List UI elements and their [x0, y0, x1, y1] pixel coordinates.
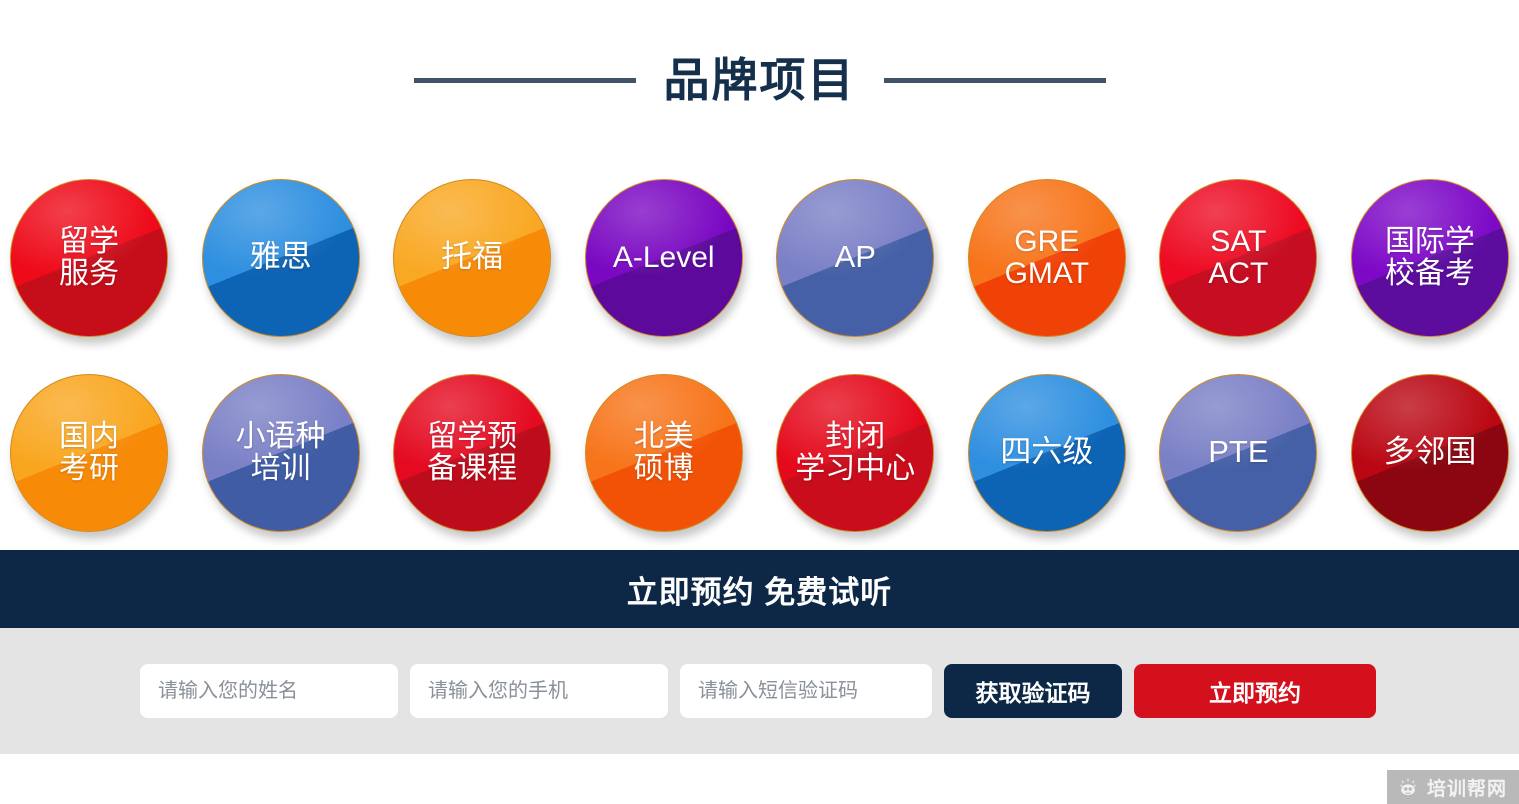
- program-label-line: 校备考: [1385, 258, 1475, 289]
- program-bubble-label: 多邻国: [1383, 436, 1476, 468]
- program-label-line: ACT: [1208, 258, 1268, 289]
- program-bubble[interactable]: 小语种培训: [202, 374, 360, 532]
- program-label-line: 国际学: [1385, 226, 1475, 257]
- program-bubble[interactable]: 北美硕博: [585, 374, 743, 532]
- program-bubble[interactable]: GREGMAT: [968, 179, 1126, 337]
- program-label-line: 国内: [59, 421, 119, 452]
- phone-input[interactable]: [410, 664, 668, 718]
- sms-code-input[interactable]: [680, 664, 932, 718]
- program-label-line: 服务: [59, 258, 119, 289]
- program-label-line: 北美: [634, 421, 694, 452]
- program-bubble-label: 国内考研: [59, 421, 119, 483]
- site-watermark: 培训帮网: [1387, 770, 1519, 804]
- program-label-line: 学习中心: [795, 453, 915, 484]
- program-label-line: 四六级: [1000, 436, 1093, 468]
- program-bubble[interactable]: 国内考研: [10, 374, 168, 532]
- program-bubble[interactable]: 留学预备课程: [393, 374, 551, 532]
- program-bubble-label: 托福: [441, 241, 503, 273]
- program-label-line: 培训: [236, 453, 326, 484]
- program-bubble[interactable]: 托福: [393, 179, 551, 337]
- program-label-line: 留学预: [427, 421, 517, 452]
- program-label-line: 雅思: [250, 241, 312, 273]
- program-label-line: AP: [835, 241, 876, 273]
- program-bubble[interactable]: 封闭学习中心: [776, 374, 934, 532]
- program-bubble-label: 小语种培训: [236, 421, 326, 483]
- program-label-line: SAT: [1208, 226, 1268, 257]
- program-label-line: 小语种: [236, 421, 326, 452]
- program-bubble-label: PTE: [1208, 436, 1268, 468]
- program-bubble-label: GREGMAT: [1005, 226, 1089, 288]
- eye-sun-icon: [1397, 776, 1419, 798]
- program-bubble[interactable]: 多邻国: [1351, 374, 1509, 532]
- program-bubble[interactable]: 国际学校备考: [1351, 179, 1509, 337]
- section-heading: 品牌项目: [0, 0, 1519, 160]
- cta-banner-text: 立即预约 免费试听: [627, 567, 893, 612]
- program-bubble[interactable]: 雅思: [202, 179, 360, 337]
- reservation-form: 获取验证码 立即预约: [0, 628, 1519, 754]
- program-label-line: 考研: [59, 453, 119, 484]
- program-row-2: 国内考研小语种培训留学预备课程北美硕博封闭学习中心四六级PTE多邻国: [4, 355, 1515, 550]
- program-grid: 留学服务雅思托福A-LevelAPGREGMATSATACT国际学校备考 国内考…: [0, 160, 1519, 550]
- program-label-line: GMAT: [1005, 258, 1089, 289]
- name-input[interactable]: [140, 664, 398, 718]
- program-label-line: PTE: [1208, 436, 1268, 468]
- program-bubble[interactable]: SATACT: [1159, 179, 1317, 337]
- program-bubble[interactable]: A-Level: [585, 179, 743, 337]
- program-label-line: 硕博: [634, 453, 694, 484]
- heading-rule-left: [414, 78, 636, 83]
- program-row-1: 留学服务雅思托福A-LevelAPGREGMATSATACT国际学校备考: [4, 160, 1515, 355]
- get-sms-code-button[interactable]: 获取验证码: [944, 664, 1122, 718]
- program-label-line: 托福: [441, 241, 503, 273]
- program-bubble-label: AP: [835, 241, 876, 273]
- program-bubble-label: SATACT: [1208, 226, 1268, 288]
- submit-reservation-button[interactable]: 立即预约: [1134, 664, 1376, 718]
- program-bubble[interactable]: 四六级: [968, 374, 1126, 532]
- program-bubble-label: A-Level: [613, 242, 715, 273]
- page-title: 品牌项目: [664, 57, 856, 103]
- program-bubble[interactable]: PTE: [1159, 374, 1317, 532]
- program-label-line: GRE: [1005, 226, 1089, 257]
- program-bubble[interactable]: 留学服务: [10, 179, 168, 337]
- program-label-line: 多邻国: [1383, 436, 1476, 468]
- heading-rule-right: [884, 78, 1106, 83]
- program-bubble-label: 封闭学习中心: [795, 421, 915, 483]
- program-bubble-label: 四六级: [1000, 436, 1093, 468]
- program-label-line: 备课程: [427, 453, 517, 484]
- program-bubble-label: 国际学校备考: [1385, 226, 1475, 288]
- cta-banner: 立即预约 免费试听: [0, 550, 1519, 628]
- program-label-line: A-Level: [613, 242, 715, 273]
- program-bubble-label: 留学服务: [59, 226, 119, 288]
- watermark-text: 培训帮网: [1427, 774, 1507, 801]
- program-bubble-label: 留学预备课程: [427, 421, 517, 483]
- program-bubble-label: 雅思: [250, 241, 312, 273]
- program-label-line: 封闭: [795, 421, 915, 452]
- program-bubble[interactable]: AP: [776, 179, 934, 337]
- program-bubble-label: 北美硕博: [634, 421, 694, 483]
- program-label-line: 留学: [59, 226, 119, 257]
